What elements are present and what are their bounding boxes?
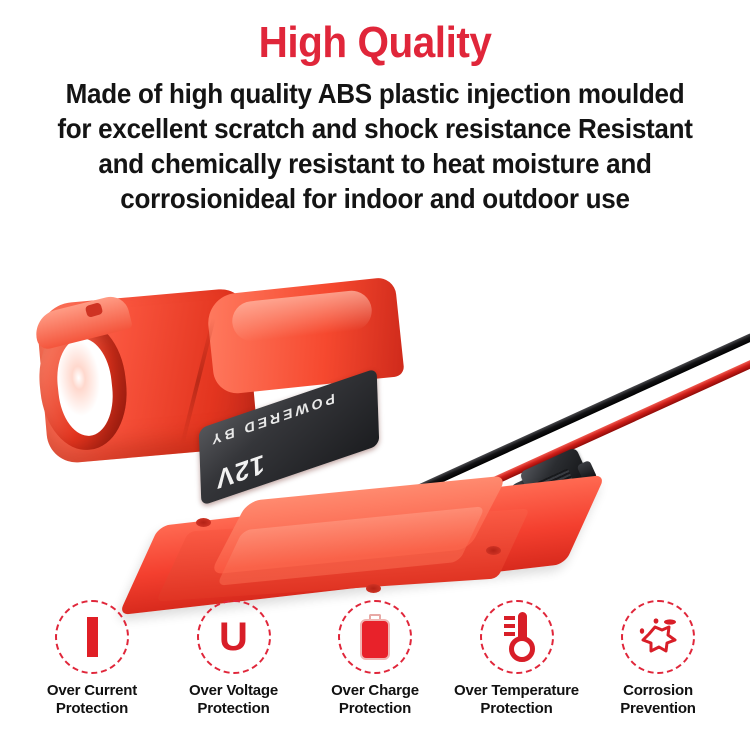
screw-hole bbox=[366, 584, 381, 593]
description-line-2: for excellent scratch and shock resistan… bbox=[26, 111, 724, 146]
voltage-letter-icon: U bbox=[219, 617, 248, 657]
feature-over-temperature: Over Temperature Protection bbox=[447, 600, 587, 750]
feature-caption-line-1: Over Current bbox=[47, 682, 137, 700]
feature-over-charge: Over Charge Protection bbox=[305, 600, 445, 750]
feature-icon-circle bbox=[480, 600, 554, 674]
feature-caption-line-1: Corrosion bbox=[620, 682, 696, 700]
thermometer-tick bbox=[504, 632, 515, 636]
feature-caption: Over Current Protection bbox=[47, 682, 137, 718]
feature-caption-line-1: Over Charge bbox=[331, 682, 419, 700]
feature-caption: Over Charge Protection bbox=[331, 682, 419, 718]
feature-corrosion: Corrosion Prevention bbox=[588, 600, 728, 750]
battery-icon bbox=[360, 614, 390, 660]
screw-hole bbox=[196, 518, 211, 527]
thermometer-tick bbox=[504, 616, 515, 620]
feature-caption: Over Voltage Protection bbox=[189, 682, 278, 718]
feature-over-voltage: U Over Voltage Protection bbox=[164, 600, 304, 750]
corrosion-splat-icon bbox=[635, 616, 681, 658]
feature-caption-line-1: Over Temperature bbox=[454, 682, 579, 700]
feature-caption-line-1: Over Voltage bbox=[189, 682, 278, 700]
feature-icon-circle bbox=[338, 600, 412, 674]
thermometer-bulb bbox=[509, 636, 535, 662]
feature-icon-circle bbox=[55, 600, 129, 674]
voltage-label: 12V bbox=[215, 448, 265, 495]
feature-caption-line-2: Protection bbox=[331, 700, 419, 718]
thermometer-icon bbox=[498, 612, 536, 662]
feature-caption-line-2: Protection bbox=[189, 700, 278, 718]
feature-icon-circle: U bbox=[197, 600, 271, 674]
feature-caption: Over Temperature Protection bbox=[454, 682, 579, 718]
thermometer-tick bbox=[504, 624, 515, 628]
feature-caption-line-2: Protection bbox=[47, 700, 137, 718]
infographic-page: High Quality Made of high quality ABS pl… bbox=[0, 0, 750, 750]
current-bar-icon bbox=[87, 617, 98, 657]
feature-icon-circle bbox=[621, 600, 695, 674]
feature-caption: Corrosion Prevention bbox=[620, 682, 696, 718]
feature-row: Over Current Protection U Over Voltage P… bbox=[0, 600, 750, 750]
screw-hole bbox=[486, 546, 501, 555]
feature-over-current: Over Current Protection bbox=[22, 600, 162, 750]
description-line-1: Made of high quality ABS plastic injecti… bbox=[26, 76, 724, 111]
product-photo: 12V POWERED BY bbox=[0, 200, 750, 600]
feature-caption-line-2: Prevention bbox=[620, 700, 696, 718]
product-description: Made of high quality ABS plastic injecti… bbox=[26, 76, 724, 216]
battery-body bbox=[360, 619, 390, 660]
page-title: High Quality bbox=[30, 18, 720, 68]
feature-caption-line-2: Protection bbox=[454, 700, 579, 718]
description-line-3: and chemically resistant to heat moistur… bbox=[26, 146, 724, 181]
